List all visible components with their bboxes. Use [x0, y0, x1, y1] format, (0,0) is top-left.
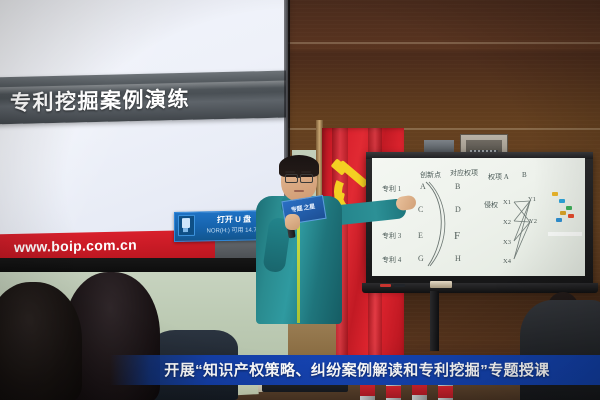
marker-red[interactable] [380, 284, 391, 287]
bottle-label [438, 386, 453, 398]
wb-letter-f: F [454, 230, 460, 242]
magnet[interactable] [556, 218, 562, 222]
glasses-bridge [296, 177, 300, 178]
usb-stem [183, 228, 188, 232]
whiteboard-eraser[interactable] [430, 281, 452, 288]
caption-text: 开展“知识产权策略、纠纷案例解读和专利挖掘”专题授课 [118, 359, 596, 381]
whiteboard-surface [372, 158, 585, 276]
wb-col-header-2: 对应权项 [450, 168, 478, 178]
eyebrow-left [285, 171, 295, 173]
presenter-mouth [294, 190, 304, 192]
wb-letter-d: D [455, 205, 461, 214]
wb-letter-b: B [455, 182, 460, 191]
magnet[interactable] [559, 199, 565, 203]
lecture-photo: 专利挖掘案例演练 www.boip.com.cn 打开 U 盘 NOR(H:) … [0, 0, 600, 400]
usb-drive-icon [178, 215, 195, 236]
magnet[interactable] [560, 211, 566, 215]
magnet[interactable] [568, 214, 574, 218]
wb-row-1: 专利 1 [382, 184, 401, 194]
bottle-label [360, 384, 375, 396]
slide-title: 专利挖掘案例演练 [10, 81, 280, 117]
eyebrow-right [301, 171, 311, 173]
wb-row-3: 专利 3 [382, 231, 401, 241]
audience-member-right [520, 300, 600, 400]
glasses-lens-left [285, 174, 298, 183]
wb-wipe-streak [548, 232, 582, 236]
audience-member-1 [0, 282, 82, 400]
wb-bipartite-edges [500, 195, 542, 267]
wb-letter-h: H [455, 254, 461, 263]
whiteboard-leg [430, 291, 439, 351]
bottle-label [386, 386, 401, 398]
marker-black[interactable] [394, 284, 405, 287]
wb-right-header-1: 权项 A [488, 172, 509, 182]
glasses-lens-right [300, 174, 313, 183]
usb-glyph [182, 218, 190, 228]
wb-brace-curves [420, 178, 454, 270]
wb-row-4: 专利 4 [382, 255, 401, 265]
magnet[interactable] [552, 192, 558, 196]
presenter-left-hand [285, 214, 300, 230]
wb-infringe-label: 侵权 [484, 200, 498, 210]
wb-right-header-2: B [522, 171, 527, 179]
magnet[interactable] [566, 206, 572, 210]
